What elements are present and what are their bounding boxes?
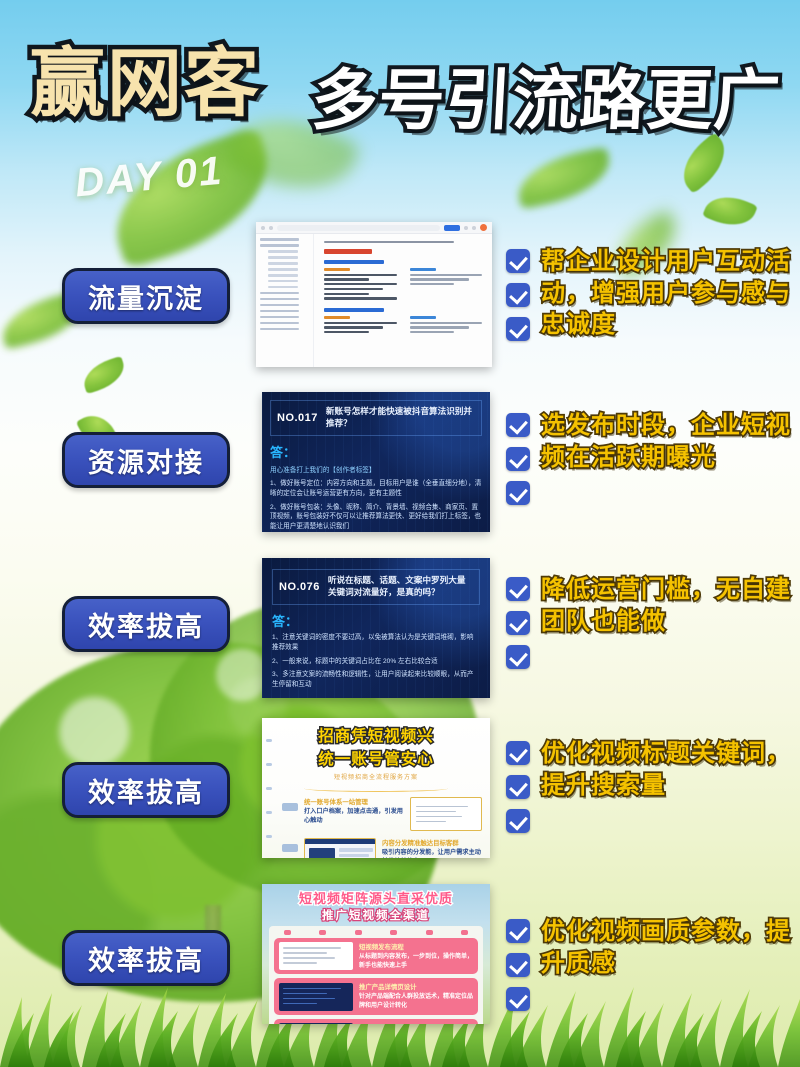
block-tag — [282, 844, 298, 852]
doc-subheading — [324, 260, 384, 264]
checklist-group-2: 选发布时段，企业短视频在活跃期曝光 — [506, 410, 791, 505]
check-icon[interactable] — [506, 317, 530, 341]
brand-title: 赢网客 — [30, 22, 261, 131]
checkbox-column — [506, 916, 530, 1011]
poster-row-body: 从标题到内容发布，一步到位，操作简单，新手也能快速上手 — [359, 953, 473, 970]
qa-question: 新账号怎样才能快速被抖音算法识别并推荐？ — [326, 406, 475, 430]
forward-icon — [269, 226, 273, 230]
pill-button-xiaolvbagao-3[interactable]: 效率拔高 — [62, 930, 230, 986]
page-header: 赢网客 多号引流路更广 — [0, 0, 800, 150]
checkbox-column — [506, 738, 530, 833]
check-icon[interactable] — [506, 283, 530, 307]
ppt-block-1: 统一账号体系一站管理 打入口户档案，加速点击通，引发用心触动 — [270, 797, 482, 831]
checkbox-column — [506, 574, 530, 669]
poster-row: 短视频发布流程 从标题到内容发布，一步到位，操作简单，新手也能快速上手 — [274, 938, 478, 974]
ppt-screenshot-1 — [410, 797, 482, 831]
poster-row-heading: 投放效果数据看板 — [359, 1023, 473, 1024]
checkbox-column — [506, 410, 530, 505]
qa-question: 听说在标题、话题、文案中罗列大量关键词对流量好，是真的吗？ — [328, 575, 473, 599]
more-icon — [464, 226, 468, 230]
check-icon[interactable] — [506, 775, 530, 799]
binding-rings — [266, 728, 272, 848]
ppt-title-line1: 招商凭短视频兴 — [270, 728, 482, 747]
qa-number: NO.017 — [277, 412, 318, 424]
check-icon[interactable] — [506, 577, 530, 601]
checklist-group-5: 优化视频画质参数，提升质感 — [506, 916, 791, 1011]
checklist-text: 选发布时段，企业短视频在活跃期曝光 — [541, 410, 791, 505]
doc-outline-panel — [256, 234, 314, 367]
poster-row: 投放效果数据看板 覆盖广告投放品牌口碑，优化投放策略提升转化 — [274, 1019, 478, 1024]
doc-toolbar — [256, 222, 492, 234]
share-button[interactable] — [444, 225, 460, 231]
doc-content — [314, 234, 492, 367]
pill-button-xiaolvbagao-2[interactable]: 效率拔高 — [62, 762, 230, 818]
checklist-group-3: 降低运营门槛，无自建团队也能做 — [506, 574, 791, 669]
ppt-screenshot-2 — [304, 838, 376, 858]
qa-answer-label: 答： — [272, 611, 480, 630]
check-icon[interactable] — [506, 741, 530, 765]
poster-row-body: 针对产品端配合人群投放话术，精准定位品牌和用户设计转化 — [359, 993, 473, 1010]
check-icon[interactable] — [506, 987, 530, 1011]
check-icon[interactable] — [506, 249, 530, 273]
qa-answer-label: 答： — [270, 442, 482, 461]
checklist-text: 优化视频标题关键词，提升搜索量 — [541, 738, 791, 833]
poster-card: 短视频发布流程 从标题到内容发布，一步到位，操作简单，新手也能快速上手 推广产品… — [269, 926, 483, 1024]
poster-screenshot — [279, 983, 353, 1011]
thumbnail-ppt-slide[interactable]: 招商凭短视频兴 统一账号管安心 短视频招商全流程服务方案 统一账号体系一站管理 … — [262, 718, 490, 858]
poster-title-line2: 推广短视频全渠道 — [269, 907, 483, 923]
check-icon[interactable] — [506, 611, 530, 635]
doc-subheading-2 — [324, 308, 384, 312]
poster-screenshot — [279, 1023, 353, 1024]
qa-number: NO.076 — [279, 581, 320, 593]
ppt-block-body: 吸引内容的分发能，让用户需求主动转发给其他人 — [382, 849, 482, 858]
thumbnail-pink-poster[interactable]: 短视频矩阵源头直采优质 推广短视频全渠道 短视频发布流程 从标题到内容发布，一步… — [262, 884, 490, 1024]
pill-button-xiaolvbagao-1[interactable]: 效率拔高 — [62, 596, 230, 652]
leaf-decoration — [702, 188, 758, 234]
checklist-text: 帮企业设计用户互动活动，增强用户参与感与忠诚度 — [541, 246, 791, 341]
check-icon[interactable] — [506, 413, 530, 437]
check-icon[interactable] — [506, 645, 530, 669]
poster-row-heading: 短视频发布流程 — [359, 942, 473, 951]
qa-tip: 用心准备打上我们的【创作者标签】 — [270, 464, 482, 474]
ppt-block-heading: 内容分发精准触达目标客群 — [382, 838, 482, 847]
thumbnail-qa-card-017[interactable]: NO.017 新账号怎样才能快速被抖音算法识别并推荐？ 答： 用心准备打上我们的… — [262, 392, 490, 532]
qa-point: 1、做好账号定位：内容方向和主题，目标用户是谁（全垂直细分地），清晰的定位会让账… — [270, 479, 482, 499]
qa-point: 2、一般来说，标题中的关键词占比在 20% 左右比较合适 — [272, 657, 480, 667]
leaf-decoration — [512, 147, 615, 210]
qa-point: 3、多注意文案的流畅性和逻辑性，让用户阅读起来比较顺眼，从而产生停留和互动 — [272, 670, 480, 690]
checklist-text: 优化视频画质参数，提升质感 — [541, 916, 791, 1011]
pill-button-liuliangchendian[interactable]: 流量沉淀 — [62, 268, 230, 324]
check-icon[interactable] — [506, 481, 530, 505]
qa-point: 1、注意关键词的密度不要过高，以免被算法认为是关键词堆砌，影响推荐效果 — [272, 633, 480, 653]
ppt-subtitle: 短视频招商全流程服务方案 — [270, 772, 482, 781]
decorative-arc — [304, 785, 448, 792]
pill-button-ziyuanduijie[interactable]: 资源对接 — [62, 432, 230, 488]
ppt-block-body: 打入口户档案，加速点击通，引发用心触动 — [304, 808, 404, 826]
checklist-text: 降低运营门槛，无自建团队也能做 — [541, 574, 791, 669]
qa-point: 2、做好账号包装：头像、昵称、简介、背景墙、视频合集、商家页、置顶视频，账号包装… — [270, 503, 482, 533]
checklist-group-1: 帮企业设计用户互动活动，增强用户参与感与忠诚度 — [506, 246, 791, 341]
day-label: DAY 01 — [73, 149, 225, 207]
checkbox-column — [506, 246, 530, 341]
checklist-group-4: 优化视频标题关键词，提升搜索量 — [506, 738, 791, 833]
block-tag — [282, 803, 298, 811]
poster-row-heading: 推广产品详情页设计 — [359, 982, 473, 991]
poster-screenshot — [279, 942, 353, 970]
avatar — [480, 224, 487, 231]
doc-heading — [324, 249, 372, 254]
check-icon[interactable] — [506, 953, 530, 977]
check-icon[interactable] — [506, 447, 530, 471]
slogan-title: 多号引流路更广 — [309, 47, 783, 143]
poster-pins — [274, 930, 478, 938]
poster-row: 推广产品详情页设计 针对产品端配合人群投放话术，精准定位品牌和用户设计转化 — [274, 978, 478, 1014]
thumbnail-qa-card-076[interactable]: NO.076 听说在标题、话题、文案中罗列大量关键词对流量好，是真的吗？ 答： … — [262, 558, 490, 698]
leaf-decoration — [79, 356, 129, 394]
check-icon[interactable] — [506, 919, 530, 943]
check-icon[interactable] — [506, 809, 530, 833]
back-icon — [261, 226, 265, 230]
ppt-block-heading: 统一账号体系一站管理 — [304, 797, 404, 806]
comment-icon — [472, 226, 476, 230]
poster-title-line1: 短视频矩阵源头直采优质 — [269, 888, 483, 907]
thumbnail-document-screenshot[interactable] — [256, 222, 492, 367]
address-bar[interactable] — [277, 225, 440, 231]
ppt-title-line2: 统一账号管安心 — [270, 751, 482, 770]
ppt-block-2: 内容分发精准触达目标客群 吸引内容的分发能，让用户需求主动转发给其他人 — [270, 838, 482, 858]
